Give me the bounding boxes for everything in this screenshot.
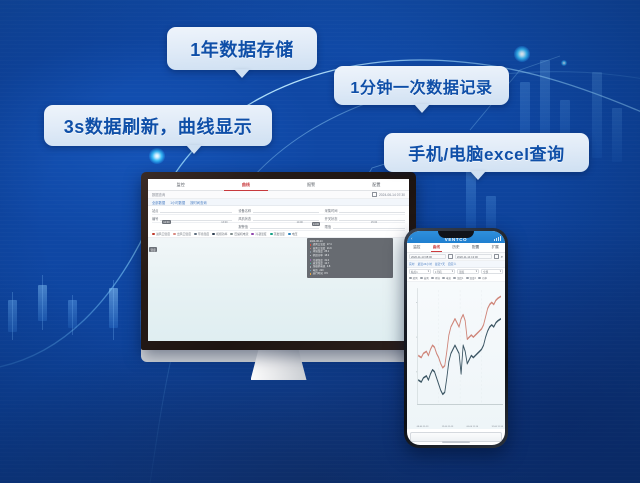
select-value: 温度 [459,270,464,274]
legend-label: 压缩机电流 [234,232,248,236]
legend-label: 功率 [482,276,487,280]
date-to-input[interactable]: 2020-11-14 13:00 [455,254,492,259]
phone-quick-links: 实时 最近24小时 最近7天 自定义 [407,261,505,268]
monitor-bezel: 监控 曲线 报警 配置 数据查询 2024-06-14 07:30 全部数据 1… [141,172,416,350]
legend-label: 环境温度 [198,232,209,236]
chevron-down-icon: ▾ [452,270,453,273]
monitor-neck [251,350,307,380]
phone-chart-legend: 进风 出风 环境 电流 温度1 温度2 功率 [407,275,505,282]
field-label: 限值 [325,224,331,229]
phone-chart-area[interactable]: 08:00 11-13 12:00 11-13 00:00 11-14 12:0… [407,282,505,429]
callout-export-text: 手机/电脑excel查询 [408,140,564,165]
legend-label: 电压 [292,232,298,236]
mobile-phone: ‹ VENTCO 监控 曲线 历史 配置 扩展 2020-11-13 08:00 [404,228,508,448]
legend-swatch [173,233,176,234]
field-box[interactable] [160,208,232,213]
phone-tab-history[interactable]: 历史 [446,243,466,252]
chevron-down-icon: ▾ [500,270,501,273]
monitor-quick-links: 全部数据 1小时数据 按时间查询 [148,199,409,206]
field-label: 风机状态 [238,216,251,221]
tooltip-dot [310,273,312,275]
tooltip-value: 8.5 [324,272,327,275]
phone-tab-monitoring[interactable]: 监控 [407,243,427,252]
x-tick-label: 12:00 [162,220,171,224]
subbar-label: 数据查询 [152,192,165,197]
legend-item[interactable]: 蒸发温度 [270,232,285,236]
tooltip-dot [310,270,312,272]
phone-tab-curve[interactable]: 曲线 [427,243,447,252]
bubble-tail [186,145,202,154]
legend-item[interactable]: 温度1 [453,276,463,280]
phone-notch [438,231,474,238]
date-from-input[interactable]: 2020-11-13 08:00 [409,254,446,259]
tooltip-dot [310,263,312,265]
phone-x-axis-labels: 08:00 11-13 12:00 11-13 00:00 11-14 12:0… [417,426,503,428]
field-box [152,225,232,229]
legend-label: 出风 [424,276,429,280]
x-axis-highlight-tag: 14:00 [312,222,321,226]
legend-item[interactable]: 环境 [431,276,440,280]
field-blank [152,225,232,229]
legend-label: 温度2 [470,276,476,280]
field-collect-time[interactable]: 采集时间 [325,208,405,213]
field-box[interactable] [253,208,319,213]
calendar-icon[interactable] [494,254,499,259]
callout-storage: 1年数据存储 [167,27,317,70]
filter-row: 编号 风机状态 开关状态 [152,215,405,223]
select-metric[interactable]: 温度▾ [457,269,479,274]
legend-swatch [251,233,254,234]
chevron-left-icon[interactable]: ‹ [411,237,413,242]
tab-monitoring[interactable]: 监控 [148,179,213,190]
legend-item[interactable]: 电流 [442,276,451,280]
filter-row: 报警值 限值 [152,223,405,231]
callout-storage-text: 1年数据存储 [190,36,294,62]
phone-link-24h[interactable]: 最近24小时 [418,262,432,266]
callout-interval-text: 1分钟一次数据记录 [350,74,492,98]
poster-root: 监控 曲线 报警 配置 数据查询 2024-06-14 07:30 全部数据 1… [0,0,640,483]
field-box[interactable] [339,208,405,213]
select-value: 站点1 [411,270,418,274]
phone-tab-bar: 监控 曲线 历史 配置 扩展 [407,243,505,253]
legend-item[interactable]: 进风口温度 [152,232,170,236]
legend-swatch [194,233,197,234]
phone-tab-config[interactable]: 配置 [466,243,486,252]
field-label: 编号 [152,216,158,221]
legend-label: 电流 [446,276,451,280]
legend-label: 机组功率 [216,232,227,236]
tooltip-dot [310,248,312,250]
signal-bars-icon [494,236,501,241]
x-tick-label: 12:00 11-13 [442,426,454,428]
select-value: 1号机 [435,270,442,274]
legend-label: 温度1 [457,276,463,280]
select-unit[interactable]: 1号机▾ [433,269,455,274]
legend-swatch [420,277,423,280]
tab-config[interactable]: 配置 [344,179,409,190]
field-box[interactable] [253,216,319,221]
desktop-monitor: 监控 曲线 报警 配置 数据查询 2024-06-14 07:30 全部数据 1… [141,172,416,387]
field-label: 采集时间 [325,208,338,213]
phone-line-chart [407,282,505,429]
legend-label: 进风 [413,276,418,280]
legend-item[interactable]: 出风口温度 [173,232,191,236]
phone-body: ‹ VENTCO 监控 曲线 历史 配置 扩展 2020-11-13 08:00 [404,228,508,448]
legend-swatch [409,277,412,280]
monitor-screen: 监控 曲线 报警 配置 数据查询 2024-06-14 07:30 全部数据 1… [148,179,409,341]
field-site[interactable]: 站点 [152,208,232,213]
legend-label: 进风口温度 [156,232,170,236]
monitor-tab-bar: 监控 曲线 报警 配置 [148,179,409,191]
phone-link-realtime[interactable]: 实时 [409,262,415,266]
x-tick-label: 15:00 [371,221,377,224]
x-tick-label: 00:00 11-14 [467,426,479,428]
tooltip-row: 机组功率18.2 [310,254,391,257]
legend-item[interactable]: 电压 [288,232,298,236]
monitor-chart-legend: 进风口温度 出风口温度 环境温度 机组功率 压缩机电流 冷凝温度 蒸发温度 电压 [148,231,409,238]
monitor-filter-fields: 站点 设备名称 采集时间 编号 风机状态 开关状态 报警值 限值 [148,206,409,231]
legend-label: 冷凝温度 [255,232,266,236]
legend-swatch [453,277,456,280]
legend-item[interactable]: 功率 [478,276,487,280]
bubble-tail [414,104,430,113]
filter-row: 站点 设备名称 采集时间 [152,207,405,215]
legend-swatch [212,233,215,234]
tooltip-row: 运行时间8.5 [310,272,391,275]
x-tick-label: 08:00 11-13 [417,426,429,428]
chevron-down-icon: ▾ [428,270,429,273]
legend-item[interactable]: 冷凝温度 [251,232,266,236]
tooltip-dot [310,255,312,257]
legend-item[interactable]: 温度2 [466,276,476,280]
legend-label: 蒸发温度 [274,232,285,236]
callout-refresh-text: 3s数据刷新，曲线显示 [64,113,253,139]
legend-label: 环境 [435,276,440,280]
field-switch-status[interactable]: 开关状态 [325,216,405,221]
legend-swatch [288,233,291,234]
callout-refresh: 3s数据刷新，曲线显示 [44,105,272,146]
field-fan-status[interactable]: 风机状态 [238,216,318,221]
x-tick-label: 13:00 [221,221,227,224]
date-display[interactable]: 2024-06-14 07:30 [372,192,405,197]
chevron-down-icon: ▾ [476,270,477,273]
select-value: 全部 [483,270,488,274]
bubble-tail [234,69,250,78]
search-icon[interactable]: ⌕ [501,254,503,259]
phone-date-range: 2020-11-13 08:00 2020-11-14 13:00 ⌕ [407,253,505,261]
callout-export: 手机/电脑excel查询 [384,133,589,172]
tooltip-dot [310,259,312,261]
select-scope[interactable]: 全部▾ [481,269,503,274]
tooltip-dot [310,266,312,268]
phone-link-7d[interactable]: 最近7天 [435,262,445,266]
field-label: 设备名称 [238,208,251,213]
tooltip-dot [310,251,312,253]
x-tick-label: 14:00 [297,221,303,224]
tab-curve[interactable]: 曲线 [213,179,278,190]
legend-label: 出风口温度 [177,232,191,236]
field-box[interactable] [333,224,405,229]
legend-swatch [152,233,155,234]
y-axis-tag: 温度 [149,247,157,252]
link-by-time[interactable]: 按时间查询 [190,200,206,205]
field-label: 站点 [152,208,158,213]
monitor-subbar: 数据查询 2024-06-14 07:30 [148,191,409,199]
legend-item[interactable]: 压缩机电流 [230,232,248,236]
callout-interval: 1分钟一次数据记录 [334,66,509,105]
phone-tab-extend[interactable]: 扩展 [485,243,505,252]
legend-swatch [431,277,434,280]
link-all-data[interactable]: 全部数据 [152,200,165,205]
legend-swatch [230,233,233,234]
legend-item[interactable]: 进风 [409,276,418,280]
field-box[interactable] [250,224,319,229]
phone-home-indicator [442,441,470,443]
legend-swatch [270,233,273,234]
tooltip-label: 运行时间 [313,272,323,275]
field-label: 开关状态 [325,216,338,221]
phone-link-custom[interactable]: 自定义 [448,262,456,266]
legend-item[interactable]: 机组功率 [212,232,227,236]
chart-tooltip: 2024-06-14 进风口温度27.4 出风口温度21.6 环境温度25.1 … [307,238,393,278]
date-text: 2024-06-14 07:30 [379,193,405,197]
x-tick-label: 12:00 11-14 [491,426,503,428]
phone-screen: ‹ VENTCO 监控 曲线 历史 配置 扩展 2020-11-13 08:00 [407,231,505,445]
field-label: 报警值 [238,224,248,229]
tooltip-value: 18.2 [324,254,329,257]
select-site[interactable]: 站点1▾ [409,269,431,274]
phone-select-row: 站点1▾ 1号机▾ 温度▾ 全部▾ [407,268,505,275]
tab-alarm[interactable]: 报警 [279,179,344,190]
tooltip-label: 机组功率 [313,254,323,257]
field-device-name[interactable]: 设备名称 [238,208,318,213]
calendar-icon[interactable] [448,254,453,259]
tooltip-value: 4.8 [327,265,330,268]
tooltip-dot [310,244,312,246]
calendar-icon [372,192,377,197]
legend-swatch [466,277,469,280]
legend-item[interactable]: 出风 [420,276,429,280]
legend-item[interactable]: 环境温度 [194,232,209,236]
bubble-tail [470,171,486,180]
legend-swatch [478,277,481,280]
legend-swatch [442,277,445,280]
field-limit[interactable]: 限值 [325,224,405,229]
link-hourly-data[interactable]: 1小时数据 [170,200,185,205]
field-alarm-value[interactable]: 报警值 [238,224,318,229]
